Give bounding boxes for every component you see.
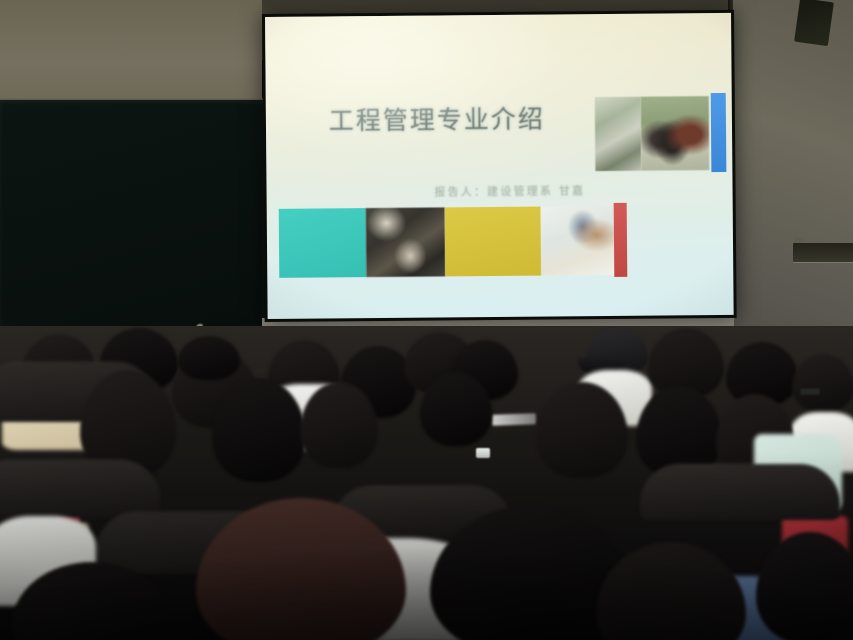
yellow-block	[445, 206, 542, 276]
blue-bar	[711, 93, 727, 172]
shirt-print	[492, 413, 536, 426]
left-upper-wall	[0, 0, 262, 104]
lecture-hall-photo: 工程管理专业介绍 报告人：建设管理系 甘嘉	[0, 0, 853, 640]
audience-head	[792, 354, 853, 412]
students-reading-photo	[641, 96, 709, 171]
red-bar	[613, 203, 627, 277]
ceiling-speaker-icon	[794, 0, 834, 46]
eyeglasses-icon	[800, 388, 820, 395]
dark-photo-block	[365, 207, 445, 277]
slide-title: 工程管理专业介绍	[329, 99, 545, 137]
slide-surface: 工程管理专业介绍 报告人：建设管理系 甘嘉	[265, 13, 734, 319]
light-photo-block	[541, 206, 616, 276]
chair-back	[640, 464, 840, 520]
wall-vent-icon	[793, 243, 853, 262]
audience	[0, 326, 853, 640]
bottle-cap	[476, 448, 490, 458]
students-outdoor-photo	[594, 97, 641, 171]
projection-screen: 工程管理专业介绍 报告人：建设管理系 甘嘉	[262, 10, 737, 322]
slide-subtitle: 报告人：建设管理系 甘嘉	[434, 182, 585, 199]
chair-back	[0, 460, 160, 518]
audience-head	[178, 336, 240, 380]
teal-block	[279, 208, 366, 278]
blackboard	[0, 100, 264, 362]
